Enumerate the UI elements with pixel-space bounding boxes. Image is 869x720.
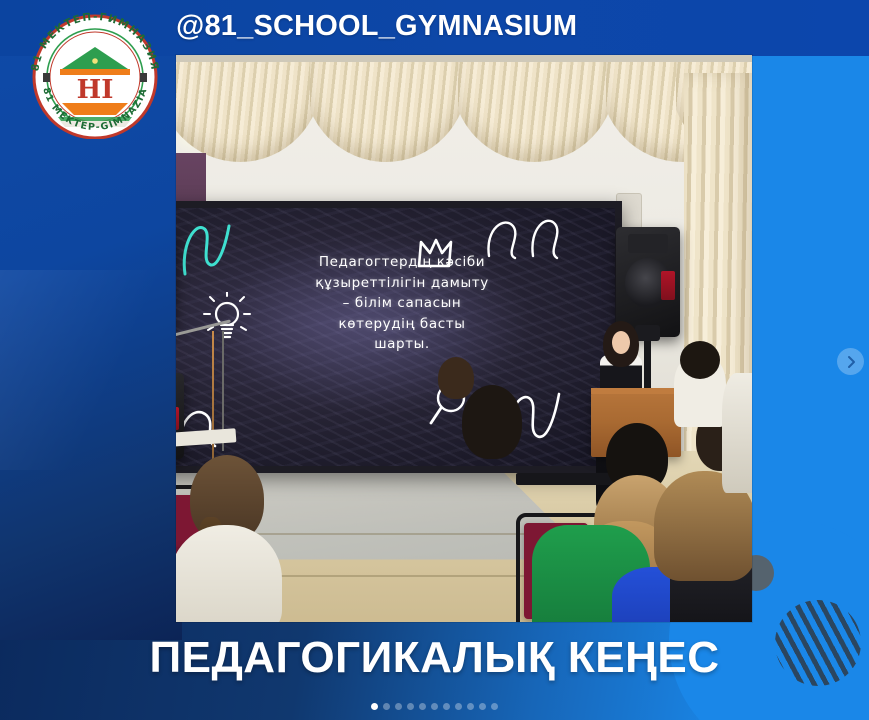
pa-speaker xyxy=(616,227,680,337)
logo-monogram: НІ xyxy=(77,75,114,105)
chalkboard-line: Педагогтердің кәсіби xyxy=(237,252,567,273)
carousel-dot[interactable] xyxy=(407,703,414,710)
carousel-next-button[interactable] xyxy=(837,348,864,375)
speaker-badge xyxy=(661,271,675,300)
account-handle: @81_SCHOOL_GYMNASIUM xyxy=(176,2,577,50)
post-title: ПЕДАГОГИКАЛЫҚ КЕҢЕС xyxy=(0,628,869,688)
chevron-right-icon xyxy=(844,355,858,369)
audience-member xyxy=(722,373,752,493)
speaker-horn xyxy=(628,234,669,254)
chalkboard-line: құзыреттілігін дамыту xyxy=(237,273,567,294)
carousel-dot[interactable] xyxy=(467,703,474,710)
presentation-chalkboard: Педагогтердің кәсіби құзыреттілігін дамы… xyxy=(176,201,622,473)
post-photo[interactable]: Педагогтердің кәсіби құзыреттілігін дамы… xyxy=(176,55,752,622)
speaker-badge xyxy=(176,407,179,429)
carousel-dot[interactable] xyxy=(455,703,462,710)
carousel-dot[interactable] xyxy=(491,703,498,710)
audience-member xyxy=(462,385,522,459)
audience-member xyxy=(438,357,474,399)
post-canvas: @81_SCHOOL_GYMNASIUM НІ xyxy=(0,0,869,720)
audience-member xyxy=(680,341,720,379)
curtain-swag xyxy=(176,62,316,167)
carousel-dot[interactable] xyxy=(479,703,486,710)
chalkboard-line: шарты. xyxy=(237,334,567,355)
chalkboard-line: көтерудің басты xyxy=(237,314,567,335)
carousel-dot[interactable] xyxy=(371,703,378,710)
carousel-dot[interactable] xyxy=(395,703,402,710)
presenter-face xyxy=(612,331,630,354)
background-left-sheen xyxy=(0,270,182,470)
chalkboard-text: Педагогтердің кәсіби құзыреттілігін дамы… xyxy=(237,252,567,355)
curtain-swag xyxy=(310,62,462,167)
carousel-dot[interactable] xyxy=(431,703,438,710)
school-logo: НІ 81 МЕКТЕП-ГИМНАЗИЯ 81 MEKTEP-GIMNAZIA xyxy=(16,3,174,139)
squiggle-icon xyxy=(179,218,239,280)
carousel-dot[interactable] xyxy=(443,703,450,710)
chalkboard-line: – білім сапасын xyxy=(237,293,567,314)
curtain-swag xyxy=(458,62,610,167)
carousel-dots[interactable] xyxy=(0,703,869,710)
carousel-dot[interactable] xyxy=(419,703,426,710)
carousel-dot[interactable] xyxy=(383,703,390,710)
